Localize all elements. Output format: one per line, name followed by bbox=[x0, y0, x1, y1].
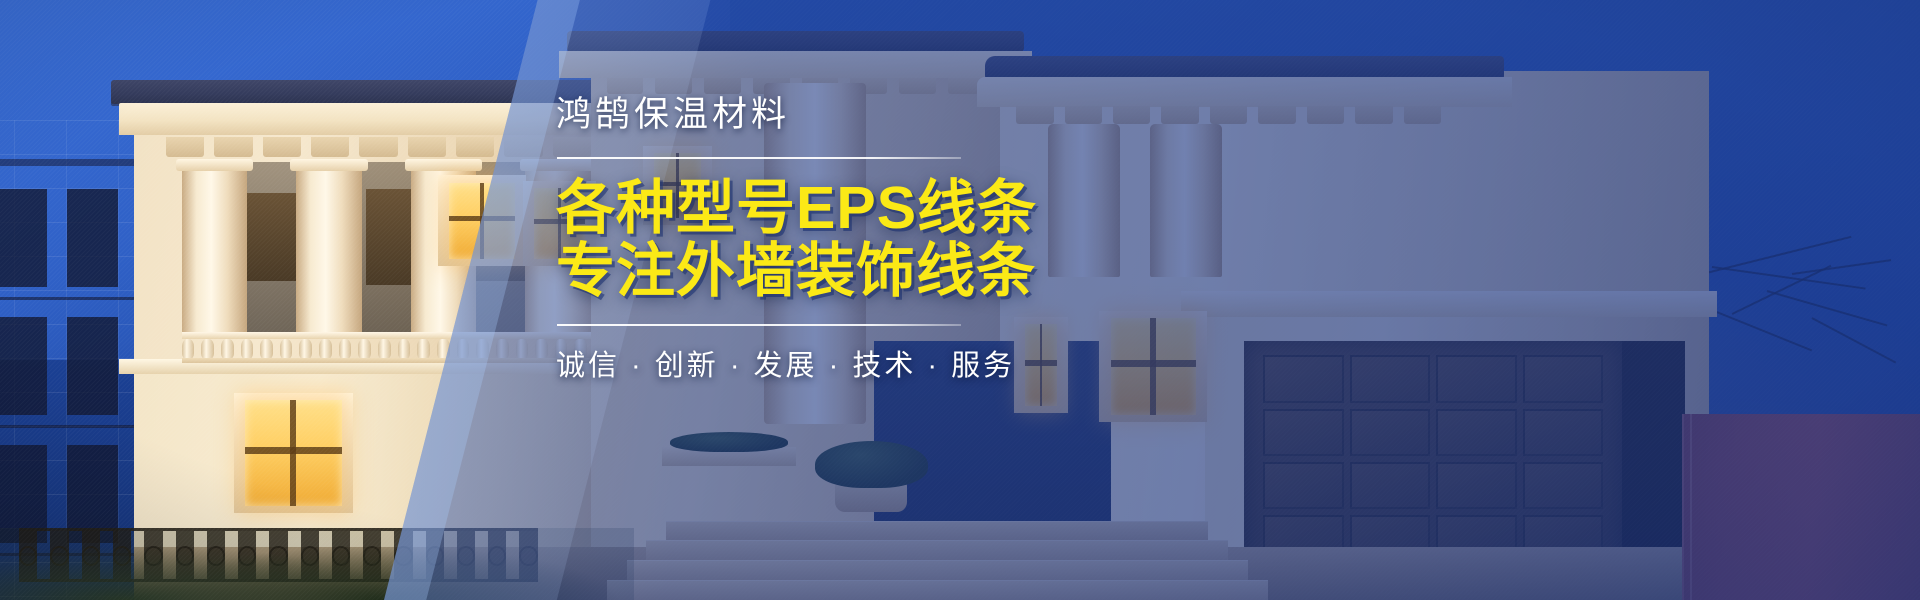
hero-banner: 鸿鹄保温材料 各种型号EPS线条 专注外墙装饰线条 诚信 · 创新 · 发展 ·… bbox=[0, 0, 1920, 600]
garage-opening-shadow bbox=[1622, 341, 1685, 576]
brand-name: 鸿鹄保温材料 bbox=[556, 96, 1316, 135]
villa-center-cornice bbox=[559, 51, 1031, 78]
villa-column bbox=[296, 159, 361, 335]
balustrade-cap bbox=[182, 332, 607, 339]
villa-center-roof bbox=[567, 31, 1024, 52]
villa-right-roof bbox=[985, 56, 1505, 80]
planter-shrub-left bbox=[670, 432, 788, 452]
tagline: 诚信 · 创新 · 发展 · 技术 · 服务 bbox=[556, 342, 1316, 384]
lit-window bbox=[245, 400, 343, 506]
entrance-step bbox=[607, 580, 1268, 600]
window-mullion-horizontal bbox=[245, 447, 343, 454]
entrance-step bbox=[627, 560, 1249, 580]
lit-window bbox=[449, 183, 515, 259]
foreground-hedge bbox=[0, 528, 634, 600]
red-container-wall bbox=[1682, 414, 1920, 600]
entrance-step bbox=[646, 540, 1228, 560]
villa-column bbox=[182, 159, 247, 335]
potted-plant bbox=[815, 441, 928, 488]
villa-left-dentils bbox=[166, 137, 591, 157]
balustrade-base bbox=[182, 358, 607, 363]
balusters bbox=[182, 339, 607, 359]
entrance-step bbox=[666, 521, 1208, 541]
headline-line-1: 各种型号EPS线条 bbox=[556, 175, 1037, 241]
villa-left-roof bbox=[111, 80, 631, 105]
headline-line-2: 专注外墙装饰线条 bbox=[556, 240, 1316, 304]
entrance-steps bbox=[607, 524, 1268, 600]
headline: 各种型号EPS线条 专注外墙装饰线条 bbox=[556, 177, 1316, 304]
banner-copy-block: 鸿鹄保温材料 各种型号EPS线条 专注外墙装饰线条 诚信 · 创新 · 发展 ·… bbox=[556, 96, 1316, 384]
divider-top bbox=[557, 157, 961, 159]
villa-balustrade bbox=[182, 332, 607, 363]
divider-bottom bbox=[557, 324, 961, 326]
garage-door-panels bbox=[1263, 355, 1603, 562]
villa-left-cornice bbox=[119, 103, 623, 136]
window-mullion-horizontal bbox=[449, 216, 515, 221]
